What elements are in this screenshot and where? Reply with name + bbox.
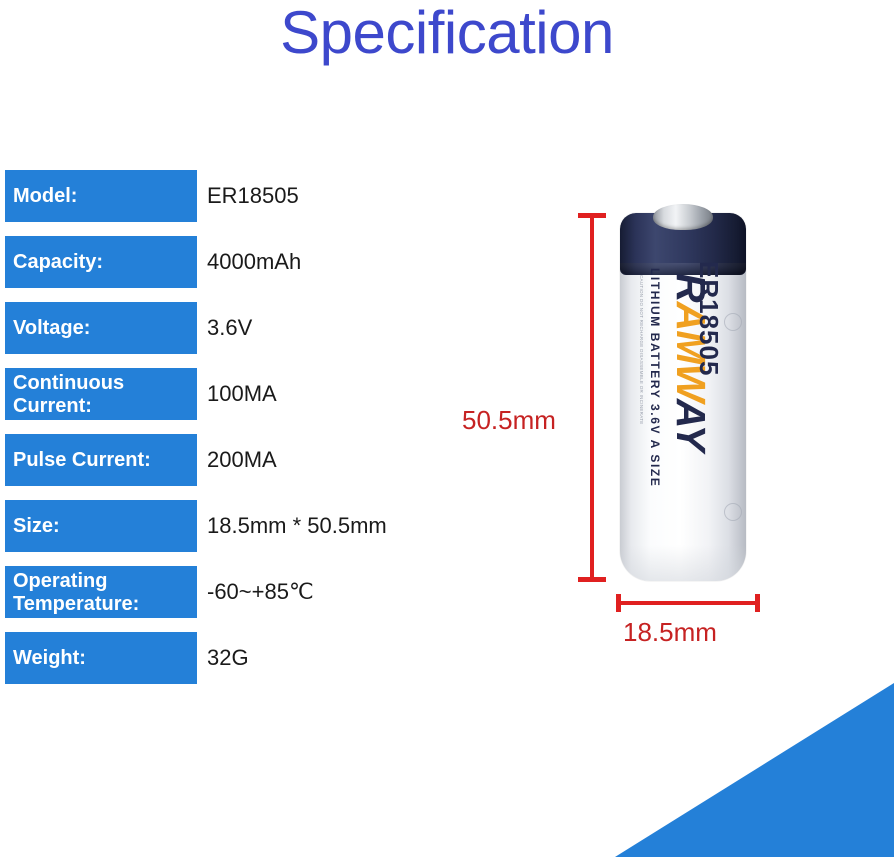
spec-label-text-line2: Current: xyxy=(13,395,124,418)
width-dimension-label: 18.5mm xyxy=(623,617,717,648)
spec-label-continuous-current: Continuous Current: xyxy=(5,368,197,420)
spec-label-voltage: Voltage: xyxy=(5,302,197,354)
width-dimension-line xyxy=(617,601,760,605)
table-row: Voltage: 3.6V xyxy=(5,302,445,368)
spec-label-text: Pulse Current: xyxy=(13,449,151,471)
height-dimension-label: 50.5mm xyxy=(462,405,556,436)
battery-positive-terminal xyxy=(653,204,713,230)
height-dimension-line xyxy=(590,215,594,581)
battery-image: CAUTION DO NOT RECHARGE DISASSEMBLE OR I… xyxy=(620,213,746,581)
spec-value-pulse-current: 200MA xyxy=(207,434,277,486)
spec-label-text: Voltage: xyxy=(13,317,90,339)
page-title: Specification xyxy=(0,0,894,68)
battery-model-text: ER18505 xyxy=(693,261,724,376)
spec-label-operating-temperature: Operating Temperature: xyxy=(5,566,197,618)
battery-mark-icon xyxy=(724,503,742,521)
spec-value-capacity: 4000mAh xyxy=(207,236,301,288)
table-row: Weight: 32G xyxy=(5,632,445,698)
spec-label-text-line2: Temperature: xyxy=(13,593,139,616)
height-dimension-cap-bottom xyxy=(578,577,606,582)
spec-label-model: Model: xyxy=(5,170,197,222)
table-row: Operating Temperature: -60~+85℃ xyxy=(5,566,445,632)
spec-value-operating-temperature: -60~+85℃ xyxy=(207,566,314,618)
table-row: Model: ER18505 xyxy=(5,170,445,236)
battery-fineprint-text: CAUTION DO NOT RECHARGE DISASSEMBLE OR I… xyxy=(639,275,644,425)
width-dimension-cap-right xyxy=(755,594,760,612)
logo-part-3: AY xyxy=(668,399,714,451)
spec-label-text: Operating xyxy=(13,570,139,593)
table-row: Continuous Current: 100MA xyxy=(5,368,445,434)
battery-bottom-shading xyxy=(620,545,746,581)
spec-value-continuous-current: 100MA xyxy=(207,368,277,420)
spec-table: Model: ER18505 Capacity: 4000mAh Voltage… xyxy=(5,170,445,698)
battery-description-text: LITHIUM BATTERY 3.6V A SIZE xyxy=(648,268,662,487)
corner-decoration-triangle xyxy=(615,683,894,857)
spec-label-text: Capacity: xyxy=(13,251,103,273)
spec-value-voltage: 3.6V xyxy=(207,302,252,354)
spec-label-size: Size: xyxy=(5,500,197,552)
spec-label-text: Size: xyxy=(13,515,60,537)
specification-page: Specification Model: ER18505 Capacity: 4… xyxy=(0,0,894,857)
spec-label-text: Weight: xyxy=(13,647,86,669)
battery-body: CAUTION DO NOT RECHARGE DISASSEMBLE OR I… xyxy=(620,213,746,581)
spec-value-weight: 32G xyxy=(207,632,249,684)
spec-label-weight: Weight: xyxy=(5,632,197,684)
table-row: Pulse Current: 200MA xyxy=(5,434,445,500)
battery-mark-icon xyxy=(724,313,742,331)
table-row: Size: 18.5mm * 50.5mm xyxy=(5,500,445,566)
spec-value-size: 18.5mm * 50.5mm xyxy=(207,500,387,552)
spec-value-model: ER18505 xyxy=(207,170,299,222)
spec-label-pulse-current: Pulse Current: xyxy=(5,434,197,486)
spec-label-text: Continuous xyxy=(13,372,124,395)
table-row: Capacity: 4000mAh xyxy=(5,236,445,302)
spec-label-text: Model: xyxy=(13,185,77,207)
spec-label-capacity: Capacity: xyxy=(5,236,197,288)
